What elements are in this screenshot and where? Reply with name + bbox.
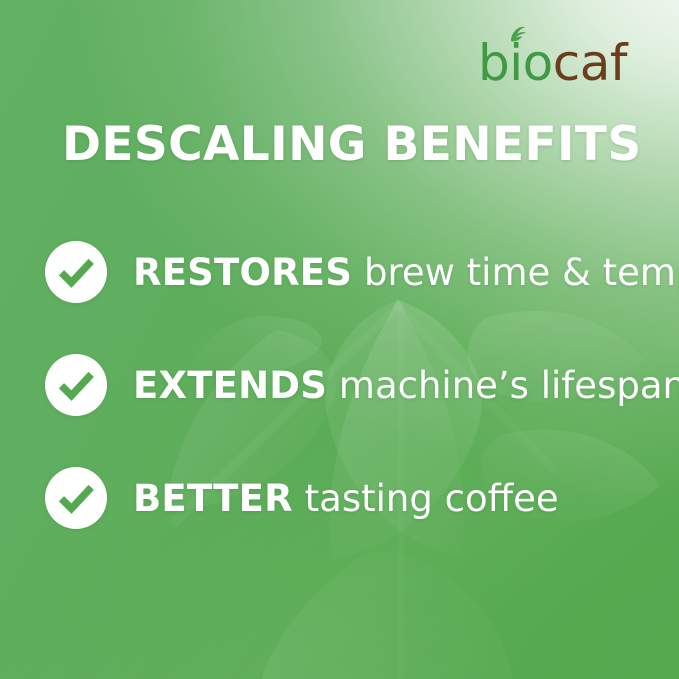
- page-title: DESCALING BENEFITS: [62, 119, 642, 172]
- check-circle-icon: [45, 241, 107, 303]
- benefit-emphasis: BETTER: [133, 477, 293, 520]
- benefit-item: RESTORES brew time & temp: [45, 241, 679, 303]
- benefit-item: BETTER tasting coffee: [45, 467, 559, 529]
- check-circle-icon: [45, 354, 107, 416]
- benefit-label: RESTORES brew time & temp: [133, 254, 679, 291]
- benefit-emphasis: RESTORES: [133, 251, 352, 294]
- check-circle-icon: [45, 467, 107, 529]
- benefit-label: EXTENDS machine’s lifespan: [133, 367, 679, 404]
- benefit-item: EXTENDS machine’s lifespan: [45, 354, 679, 416]
- poster-canvas: biocaf DESCALING BENEFITS RESTORES brew …: [0, 0, 679, 679]
- logo-text-caf: caf: [553, 38, 627, 88]
- benefit-emphasis: EXTENDS: [133, 364, 327, 407]
- benefit-detail: machine’s lifespan: [339, 364, 679, 407]
- benefit-detail: tasting coffee: [305, 477, 559, 520]
- background-gradient: [0, 0, 679, 679]
- logo-text-bio: bio: [478, 38, 553, 88]
- brand-logo[interactable]: biocaf: [478, 26, 627, 88]
- benefit-detail: brew time & temp: [364, 251, 679, 294]
- leaf-icon: [509, 24, 535, 44]
- benefit-label: BETTER tasting coffee: [133, 480, 559, 517]
